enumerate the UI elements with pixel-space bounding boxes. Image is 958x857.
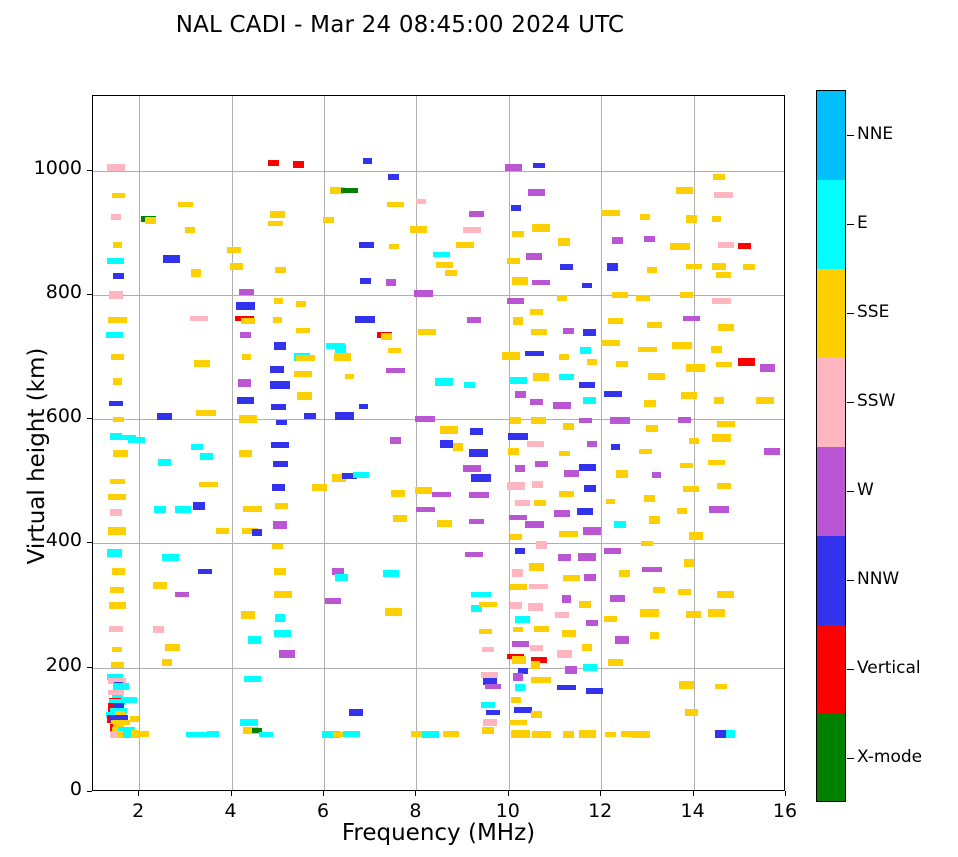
echo-point xyxy=(470,428,482,435)
echo-point xyxy=(109,602,126,609)
echo-point xyxy=(270,381,290,389)
echo-point xyxy=(562,630,576,637)
echo-point xyxy=(109,291,124,299)
echo-point xyxy=(274,298,284,305)
echo-point xyxy=(238,379,251,387)
echo-point xyxy=(239,415,257,423)
colorbar-segment-ssw[interactable] xyxy=(817,358,845,447)
echo-point xyxy=(738,243,751,249)
echo-point xyxy=(108,527,126,534)
echo-point xyxy=(532,481,544,488)
colorbar-segment-vertical[interactable] xyxy=(817,625,845,714)
echo-point xyxy=(646,425,659,431)
echo-point xyxy=(216,528,229,534)
echo-point xyxy=(239,289,254,295)
colorbar-label-x-mode: X-mode xyxy=(857,747,922,767)
echo-point xyxy=(680,463,693,468)
echo-point xyxy=(464,382,475,388)
echo-point xyxy=(586,688,603,694)
echo-point xyxy=(532,280,550,286)
ionogram-page: NAL CADI - Mar 24 08:45:00 2024 UTC 2468… xyxy=(0,0,958,857)
azimuth-colorbar[interactable] xyxy=(816,90,846,802)
echo-point xyxy=(194,360,211,367)
x-tick-mark xyxy=(138,791,139,796)
colorbar-tick-mark xyxy=(847,580,854,582)
x-tick-label: 4 xyxy=(201,800,261,822)
echo-point xyxy=(532,731,551,738)
echo-point xyxy=(536,541,547,549)
echo-point xyxy=(708,609,725,617)
echo-point xyxy=(334,353,352,360)
echo-point xyxy=(717,591,734,599)
echo-point xyxy=(531,711,541,719)
colorbar-tick-mark xyxy=(847,491,854,493)
echo-point xyxy=(512,569,523,577)
echo-point xyxy=(582,644,592,651)
echo-point xyxy=(353,472,369,478)
echo-point xyxy=(440,426,458,434)
echo-point xyxy=(508,433,527,440)
echo-point xyxy=(275,267,286,273)
x-axis-label: Frequency (MHz) xyxy=(92,820,785,846)
echo-point xyxy=(511,730,530,738)
echo-point xyxy=(505,164,522,170)
echo-point xyxy=(153,626,163,633)
echo-point xyxy=(615,636,630,644)
echo-point xyxy=(153,582,167,589)
echo-point xyxy=(647,322,663,328)
echo-point xyxy=(110,479,125,484)
echo-point xyxy=(653,587,665,594)
echo-point xyxy=(678,417,691,423)
echo-point xyxy=(559,354,569,360)
y-tick-mark xyxy=(87,542,92,543)
x-tick-mark xyxy=(323,791,324,796)
echo-point xyxy=(644,495,655,502)
echo-point xyxy=(638,347,657,352)
echo-point xyxy=(349,709,363,716)
echo-point xyxy=(199,482,218,488)
colorbar-tick-mark xyxy=(847,669,854,671)
echo-point xyxy=(270,211,285,218)
echo-point xyxy=(422,731,439,738)
echo-point xyxy=(469,519,483,524)
echo-point xyxy=(296,355,315,361)
echo-point xyxy=(689,532,703,540)
echo-point xyxy=(513,627,523,632)
x-tick-label: 12 xyxy=(570,800,630,822)
echo-point xyxy=(158,459,170,466)
echo-point xyxy=(512,231,524,236)
y-tick-label: 0 xyxy=(12,778,82,800)
echo-point xyxy=(760,364,775,372)
echo-point xyxy=(304,413,316,419)
echo-point xyxy=(243,506,262,512)
echo-point xyxy=(714,192,733,198)
colorbar-segment-x-mode[interactable] xyxy=(817,714,845,802)
echo-point xyxy=(112,647,122,652)
echo-point xyxy=(297,392,313,400)
echo-point xyxy=(387,202,403,207)
echo-point xyxy=(485,684,501,689)
echo-point xyxy=(610,595,625,602)
echo-point xyxy=(453,443,462,451)
echo-point xyxy=(583,397,596,403)
echo-point xyxy=(276,420,286,425)
echo-point xyxy=(106,332,123,338)
echo-point xyxy=(175,506,191,513)
echo-point xyxy=(509,720,526,725)
echo-point xyxy=(469,492,489,498)
echo-point xyxy=(531,677,551,684)
echo-point xyxy=(443,731,460,737)
echo-point xyxy=(193,502,205,509)
echo-point xyxy=(341,188,358,193)
echo-point xyxy=(579,601,591,608)
echo-point xyxy=(383,570,400,577)
echo-point xyxy=(631,731,649,738)
echo-point xyxy=(601,340,620,346)
echo-point xyxy=(579,418,592,423)
echo-point xyxy=(510,584,527,591)
echo-point xyxy=(717,421,735,428)
echo-point xyxy=(274,568,286,576)
echo-point xyxy=(709,506,728,513)
echo-point xyxy=(107,258,124,264)
echo-point xyxy=(359,242,375,248)
echo-point xyxy=(530,309,542,315)
echo-point xyxy=(335,412,354,420)
echo-point xyxy=(410,226,427,233)
echo-point xyxy=(388,174,399,181)
echo-point xyxy=(463,465,481,472)
echo-point xyxy=(614,521,626,528)
y-tick-mark xyxy=(87,294,92,295)
echo-point xyxy=(507,258,520,264)
echo-point xyxy=(418,329,436,335)
echo-point xyxy=(584,485,596,492)
echo-point xyxy=(579,382,595,389)
echo-point xyxy=(515,616,530,623)
echo-point xyxy=(240,719,258,727)
echo-point xyxy=(636,295,650,301)
echo-point xyxy=(712,216,722,223)
echo-point xyxy=(683,316,700,321)
echo-point xyxy=(513,673,523,680)
echo-point xyxy=(469,211,483,216)
echo-point xyxy=(604,391,622,397)
echo-point xyxy=(445,270,457,275)
x-tick-label: 16 xyxy=(755,800,815,822)
echo-point xyxy=(360,278,370,284)
echo-point xyxy=(525,521,544,528)
echo-point xyxy=(479,629,492,635)
echo-point xyxy=(647,267,658,273)
echo-point xyxy=(482,727,493,734)
echo-point xyxy=(274,630,292,637)
echo-point xyxy=(530,645,543,651)
echo-point xyxy=(555,612,569,618)
echo-point xyxy=(616,361,628,367)
echo-point xyxy=(471,592,491,597)
echo-point xyxy=(323,217,334,223)
echo-point xyxy=(683,486,699,492)
echo-point xyxy=(676,187,693,195)
echo-point xyxy=(563,575,580,581)
echo-point xyxy=(110,509,123,516)
x-tick-mark xyxy=(600,791,601,796)
x-tick-mark xyxy=(415,791,416,796)
echo-point xyxy=(175,592,189,598)
echo-point xyxy=(531,661,541,669)
echo-point xyxy=(483,719,497,727)
echo-point xyxy=(689,438,699,444)
echo-point xyxy=(553,402,571,410)
echo-point xyxy=(563,328,574,334)
echo-point xyxy=(112,568,125,575)
echo-point xyxy=(580,347,591,354)
echo-point xyxy=(686,215,697,222)
echo-point xyxy=(558,238,570,245)
echo-point xyxy=(507,298,524,305)
echo-point xyxy=(154,506,166,513)
echo-point xyxy=(718,324,734,331)
echo-point xyxy=(559,491,574,497)
echo-point xyxy=(532,224,550,232)
echo-point xyxy=(134,731,150,737)
echo-point xyxy=(481,702,495,707)
echo-point xyxy=(385,608,403,616)
echo-point xyxy=(616,470,628,478)
echo-point xyxy=(207,731,219,737)
x-tick-label: 6 xyxy=(293,800,353,822)
echo-point xyxy=(679,681,693,688)
echo-point xyxy=(708,460,725,466)
echo-point xyxy=(678,589,692,595)
echo-point xyxy=(559,531,578,537)
echo-point xyxy=(672,342,692,349)
echo-point xyxy=(130,716,139,722)
echo-point xyxy=(557,650,572,657)
y-tick-label: 1000 xyxy=(12,157,82,179)
echo-point xyxy=(273,461,288,467)
echo-point xyxy=(642,567,662,572)
echo-point xyxy=(684,559,694,567)
echo-point xyxy=(436,262,453,268)
echo-point xyxy=(388,348,401,353)
echo-point xyxy=(268,221,282,226)
echo-point xyxy=(557,295,567,301)
echo-point xyxy=(531,417,546,424)
echo-point xyxy=(579,464,596,472)
x-tick-mark xyxy=(508,791,509,796)
echo-point xyxy=(527,441,545,448)
echo-point xyxy=(190,316,208,321)
echo-point xyxy=(583,527,602,535)
echo-point xyxy=(608,659,623,666)
echo-point xyxy=(509,515,526,520)
echo-point xyxy=(559,451,570,456)
echo-point xyxy=(584,574,596,580)
echo-point xyxy=(244,676,261,682)
echo-point xyxy=(191,269,201,277)
echo-point xyxy=(110,587,124,593)
echo-point xyxy=(390,437,401,444)
echo-point xyxy=(712,434,731,442)
echo-point xyxy=(712,263,726,270)
echo-point xyxy=(508,448,520,455)
echo-point xyxy=(711,346,722,353)
echo-point xyxy=(113,417,123,422)
echo-point xyxy=(259,732,273,737)
echo-point xyxy=(359,404,368,409)
y-axis-label: Virtual height (km) xyxy=(24,256,50,656)
echo-point xyxy=(325,598,341,604)
echo-point xyxy=(479,602,496,607)
echo-point xyxy=(534,626,549,632)
echo-point xyxy=(335,574,347,582)
echo-point xyxy=(529,584,548,589)
colorbar-label-e: E xyxy=(857,213,868,233)
echo-point xyxy=(641,541,653,546)
echo-point xyxy=(515,465,525,472)
echo-point xyxy=(686,264,702,269)
echo-point xyxy=(271,442,289,448)
colorbar-segment-sse[interactable] xyxy=(817,269,845,358)
x-tick-mark xyxy=(693,791,694,796)
echo-point xyxy=(437,520,452,528)
echo-point xyxy=(435,378,453,386)
echo-point xyxy=(107,549,122,557)
echo-point xyxy=(471,474,491,481)
echo-point xyxy=(612,237,623,244)
echo-point xyxy=(237,397,253,403)
echo-point xyxy=(191,444,202,451)
echo-point xyxy=(486,710,500,715)
echo-point xyxy=(526,253,542,260)
echo-point xyxy=(515,391,526,398)
colorbar-segment-nne[interactable] xyxy=(817,91,845,180)
echo-point xyxy=(272,544,283,549)
gridline-vertical xyxy=(232,96,233,790)
echo-point xyxy=(185,227,195,233)
echo-point xyxy=(270,366,284,373)
echo-point xyxy=(652,472,661,478)
echo-point xyxy=(416,199,426,204)
echo-point xyxy=(587,441,598,447)
x-tick-label: 10 xyxy=(478,800,538,822)
echo-point xyxy=(386,279,397,286)
echo-point xyxy=(560,264,573,271)
x-tick-label: 8 xyxy=(385,800,445,822)
echo-point xyxy=(165,644,179,651)
gridline-vertical xyxy=(509,96,510,790)
echo-point xyxy=(686,364,705,372)
echo-point xyxy=(743,264,754,270)
echo-point xyxy=(525,351,544,356)
echo-point xyxy=(163,255,181,263)
y-tick-label: 200 xyxy=(12,654,82,676)
echo-point xyxy=(463,227,481,233)
echo-point xyxy=(713,174,725,180)
echo-point xyxy=(274,591,292,599)
x-tick-mark xyxy=(231,791,232,796)
echo-point xyxy=(534,500,546,506)
echo-point xyxy=(296,328,310,333)
echo-point xyxy=(355,316,375,323)
echo-point xyxy=(718,242,734,249)
echo-point xyxy=(198,569,212,574)
echo-point xyxy=(469,449,488,457)
echo-point xyxy=(145,217,156,224)
gridline-horizontal xyxy=(93,171,784,172)
echo-point xyxy=(582,283,592,289)
echo-point xyxy=(273,521,287,529)
echo-point xyxy=(677,508,688,514)
colorbar-segment-w[interactable] xyxy=(817,447,845,536)
echo-point xyxy=(271,404,286,410)
echo-point xyxy=(513,317,522,324)
echo-point xyxy=(335,345,346,353)
echo-point xyxy=(227,247,241,253)
echo-point xyxy=(764,448,780,455)
colorbar-label-ssw: SSW xyxy=(857,391,895,411)
echo-point xyxy=(293,161,305,168)
echo-point xyxy=(680,292,693,298)
echo-point xyxy=(414,290,434,298)
echo-point xyxy=(577,508,593,515)
echo-point xyxy=(236,302,254,309)
echo-point xyxy=(554,510,570,518)
echo-point xyxy=(112,193,125,198)
echo-point xyxy=(465,552,483,558)
colorbar-segment-nnw[interactable] xyxy=(817,536,845,625)
echo-point xyxy=(528,189,545,197)
echo-point xyxy=(604,548,621,554)
echo-point xyxy=(107,164,126,171)
echo-point xyxy=(512,656,526,664)
echo-point xyxy=(113,242,122,248)
echo-point xyxy=(608,318,623,324)
gridline-horizontal xyxy=(93,668,784,669)
echo-point xyxy=(586,620,599,626)
echo-point xyxy=(587,359,598,365)
echo-point xyxy=(432,492,451,497)
echo-point xyxy=(640,214,650,220)
echo-point xyxy=(230,263,243,270)
echo-point xyxy=(648,373,664,380)
echo-point xyxy=(510,417,521,424)
echo-point xyxy=(389,244,399,249)
x-tick-mark xyxy=(785,791,786,796)
echo-point xyxy=(607,263,618,271)
echo-point xyxy=(416,507,435,512)
echo-point xyxy=(712,298,731,305)
echo-point xyxy=(241,318,255,324)
echo-point xyxy=(650,632,660,640)
echo-point xyxy=(564,470,579,477)
echo-point xyxy=(363,158,372,164)
echo-point xyxy=(279,650,295,657)
ionogram-plot-area[interactable] xyxy=(92,95,785,791)
colorbar-tick-mark xyxy=(847,402,854,404)
colorbar-segment-e[interactable] xyxy=(817,180,845,269)
echo-point xyxy=(528,603,544,611)
echo-point xyxy=(649,516,660,524)
echo-point xyxy=(248,636,262,644)
echo-point xyxy=(296,301,307,307)
echo-point xyxy=(111,662,124,668)
